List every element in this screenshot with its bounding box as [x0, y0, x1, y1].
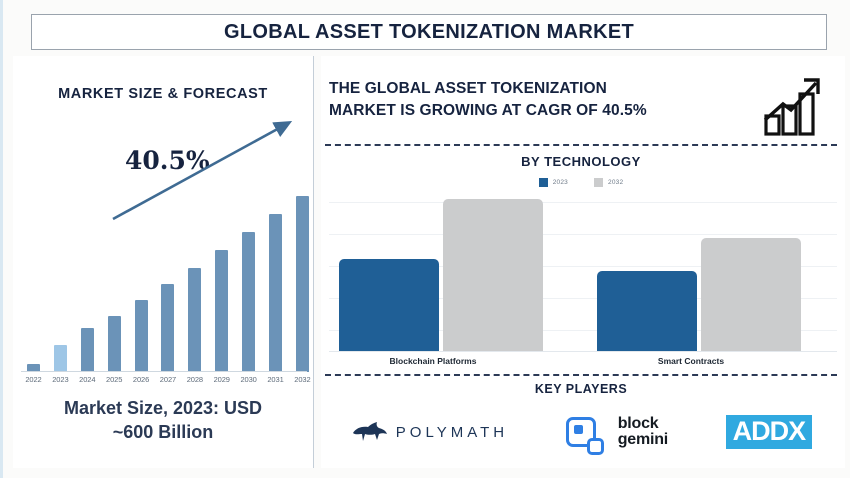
panel-divider: [313, 56, 314, 468]
market-size-year-label: 2030: [239, 375, 258, 391]
market-size-year-label: 2023: [51, 375, 70, 391]
market-size-bar: [108, 316, 121, 372]
divider-bottom: [325, 374, 837, 376]
market-size-bars: [23, 176, 313, 372]
market-size-bar: [135, 300, 148, 372]
legend-label: 2032: [608, 179, 623, 186]
by-technology-baseline: [329, 351, 837, 352]
market-size-year-label: 2024: [78, 375, 97, 391]
addx-wordmark-icon: ADDX: [726, 415, 813, 449]
legend-swatch-icon: [539, 178, 548, 187]
market-size-bar-chart: [23, 176, 313, 372]
market-size-bar: [242, 232, 255, 372]
market-size-footer: Market Size, 2023: USD ~600 Billion: [13, 396, 313, 445]
market-size-bar: [54, 345, 67, 372]
market-size-footer-line1: Market Size, 2023: USD: [13, 396, 313, 420]
market-size-year-label: 2026: [132, 375, 151, 391]
key-player-polymath[interactable]: POLYMATH: [350, 419, 508, 445]
market-size-bar: [188, 268, 201, 372]
by-technology-bar-group: [597, 238, 801, 351]
by-technology-bar: [443, 199, 543, 351]
page-title-box: GLOBAL ASSET TOKENIZATION MARKET: [31, 14, 827, 50]
page-title: GLOBAL ASSET TOKENIZATION MARKET: [224, 21, 634, 44]
by-technology-bar: [597, 271, 697, 351]
market-size-bar: [269, 214, 282, 372]
market-size-year-label: 2022: [24, 375, 43, 391]
block-gemini-mark-icon: [566, 417, 596, 447]
market-size-year-label: 2029: [212, 375, 231, 391]
market-size-bar: [296, 196, 309, 372]
by-technology-category-label: Smart Contracts: [589, 356, 793, 366]
market-size-footer-line2: ~600 Billion: [13, 420, 313, 444]
legend-item[interactable]: 2023: [539, 178, 568, 187]
right-panel: THE GLOBAL ASSET TOKENIZATION MARKET IS …: [321, 56, 845, 468]
by-technology-category-label: Blockchain Platforms: [331, 356, 535, 366]
key-players-title: KEY PLAYERS: [321, 382, 841, 396]
by-technology-bar-group: [339, 199, 543, 351]
market-size-year-label: 2031: [266, 375, 285, 391]
market-size-year-label: 2028: [185, 375, 204, 391]
legend-label: 2023: [553, 179, 568, 186]
market-size-year-label: 2032: [293, 375, 312, 391]
market-size-bar: [161, 284, 174, 372]
block-gemini-line1: block: [618, 416, 668, 432]
market-size-year-label: 2027: [158, 375, 177, 391]
market-size-axis-line: [21, 371, 307, 372]
by-technology-chart: [329, 194, 837, 352]
legend-item[interactable]: 2032: [594, 178, 623, 187]
divider-top: [325, 144, 837, 146]
market-size-year-label: 2025: [105, 375, 124, 391]
market-size-forecast-panel: MARKET SIZE & FORECAST 40.5% 20222023202…: [13, 56, 313, 468]
key-players-row: POLYMATH block gemini ADDX: [321, 404, 841, 460]
market-size-year-labels: 2022202320242025202620272028202920302031…: [23, 375, 313, 391]
hero-line-2: MARKET IS GROWING AT CAGR OF 40.5%: [329, 100, 749, 122]
legend-swatch-icon: [594, 178, 603, 187]
market-size-heading: MARKET SIZE & FORECAST: [13, 86, 313, 102]
bull-icon: [350, 419, 390, 445]
key-player-block-gemini[interactable]: block gemini: [566, 416, 668, 448]
growth-bar-chart-arrow-icon: [761, 70, 833, 140]
key-player-addx[interactable]: ADDX: [726, 415, 813, 449]
market-size-bar: [81, 328, 94, 372]
by-technology-bar: [339, 259, 439, 351]
market-size-bar: [215, 250, 228, 372]
by-technology-legend: 20232032: [321, 178, 841, 187]
block-gemini-wordmark: block gemini: [618, 416, 668, 448]
polymath-wordmark: POLYMATH: [396, 424, 508, 441]
by-technology-title: BY TECHNOLOGY: [321, 154, 841, 169]
block-gemini-line2: gemini: [618, 432, 668, 448]
by-technology-bar: [701, 238, 801, 351]
infographic-page: GLOBAL ASSET TOKENIZATION MARKET MARKET …: [0, 0, 850, 478]
cagr-annotation: 40.5%: [125, 146, 210, 175]
hero-statement: THE GLOBAL ASSET TOKENIZATION MARKET IS …: [329, 78, 749, 123]
hero-line-1: THE GLOBAL ASSET TOKENIZATION: [329, 78, 749, 100]
addx-wordmark: ADDX: [733, 416, 806, 446]
